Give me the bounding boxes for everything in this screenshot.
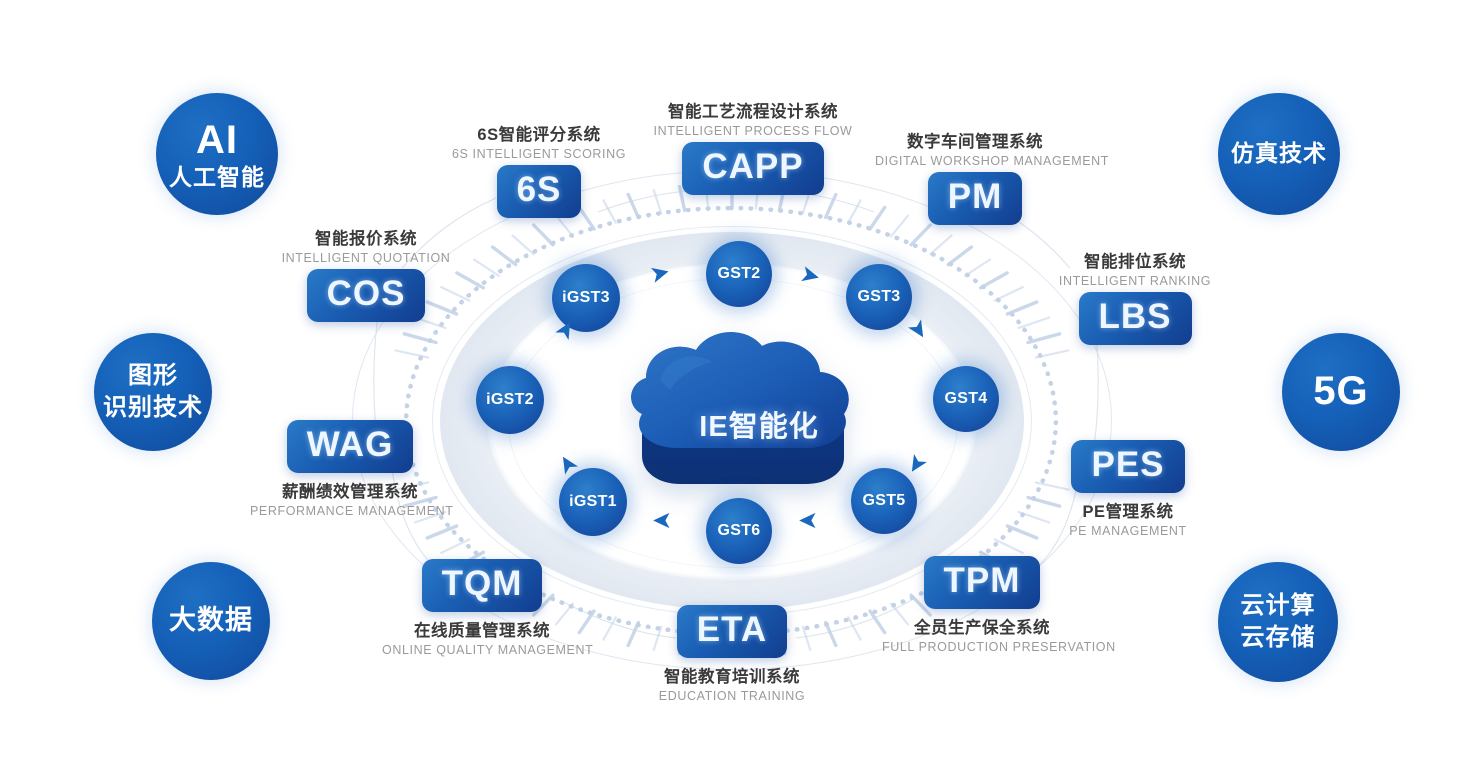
node-igst1-label: iGST1	[569, 493, 617, 511]
module-pm[interactable]: 数字车间管理系统 DIGITAL WORKSHOP MANAGEMENT PM	[875, 128, 1075, 225]
module-wag-cn: 薪酬绩效管理系统	[250, 478, 450, 502]
tech-circle-cloud[interactable]: 云计算 云存储	[1218, 562, 1338, 682]
module-cos-cn: 智能报价系统	[266, 225, 466, 249]
node-gst2-label: GST2	[718, 265, 761, 283]
module-tqm-cn: 在线质量管理系统	[382, 617, 582, 641]
tech-circle-ai-en: AI	[196, 117, 238, 164]
module-pes-abbr[interactable]: PES	[1071, 440, 1184, 493]
tech-circle-5g-en: 5G	[1313, 368, 1368, 415]
tech-circle-ai-cn: 人工智能	[169, 164, 265, 191]
module-6s-en: 6S INTELLIGENT SCORING	[439, 147, 639, 161]
node-gst4-label: GST4	[945, 390, 988, 408]
module-tqm[interactable]: TQM 在线质量管理系统 ONLINE QUALITY MANAGEMENT	[382, 559, 582, 657]
tech-circle-simulation-cn: 仿真技术	[1231, 140, 1327, 167]
module-capp-cn: 智能工艺流程设计系统	[653, 98, 853, 122]
tech-circle-bigdata[interactable]: 大数据	[152, 562, 270, 680]
module-6s-cn: 6S智能评分系统	[439, 121, 639, 145]
module-6s-abbr[interactable]: 6S	[497, 165, 582, 218]
tech-circle-ai[interactable]: AI 人工智能	[156, 93, 278, 215]
module-capp-en: INTELLIGENT PROCESS FLOW	[653, 124, 853, 138]
tech-circle-cloud-line1: 云计算	[1241, 590, 1316, 622]
tech-circle-graphics-line2: 识别技术	[103, 392, 203, 424]
arrow-bottom-left-icon: ➤	[652, 508, 672, 532]
node-igst3-label: iGST3	[562, 289, 610, 307]
node-gst5-label: GST5	[863, 492, 906, 510]
node-gst3-label: GST3	[858, 288, 901, 306]
module-cos-abbr[interactable]: COS	[307, 269, 426, 322]
module-cos[interactable]: 智能报价系统 INTELLIGENT QUOTATION COS	[266, 225, 466, 322]
module-pes-cn: PE管理系统	[1028, 498, 1228, 522]
tech-circle-simulation[interactable]: 仿真技术	[1218, 93, 1340, 215]
tech-circle-graphics[interactable]: 图形 识别技术	[94, 333, 212, 451]
diagram-canvas: IE智能化 GST2 GST3 GST4 GST5 GST6 iGST1 iGS…	[0, 0, 1463, 759]
module-pm-abbr[interactable]: PM	[928, 172, 1023, 225]
module-tqm-abbr[interactable]: TQM	[422, 559, 543, 612]
module-capp[interactable]: 智能工艺流程设计系统 INTELLIGENT PROCESS FLOW CAPP	[653, 98, 853, 195]
module-wag-en: PERFORMANCE MANAGEMENT	[250, 504, 450, 518]
tech-circle-cloud-line2: 云存储	[1241, 622, 1316, 654]
module-lbs-cn: 智能排位系统	[1035, 248, 1235, 272]
node-igst1[interactable]: iGST1	[559, 468, 627, 536]
node-gst6[interactable]: GST6	[706, 498, 772, 564]
node-gst6-label: GST6	[718, 522, 761, 540]
node-igst2[interactable]: iGST2	[476, 366, 544, 434]
node-gst3[interactable]: GST3	[846, 264, 912, 330]
tech-circle-graphics-line1: 图形	[128, 360, 178, 392]
module-eta-en: EDUCATION TRAINING	[632, 689, 832, 703]
module-lbs-en: INTELLIGENT RANKING	[1035, 274, 1235, 288]
module-tpm-cn: 全员生产保全系统	[882, 614, 1082, 638]
module-pes[interactable]: PES PE管理系统 PE MANAGEMENT	[1028, 440, 1228, 538]
arrow-bottom-right-icon: ➤	[798, 508, 818, 532]
module-wag[interactable]: WAG 薪酬绩效管理系统 PERFORMANCE MANAGEMENT	[250, 420, 450, 518]
module-cos-en: INTELLIGENT QUOTATION	[266, 251, 466, 265]
node-gst2[interactable]: GST2	[706, 241, 772, 307]
module-eta[interactable]: ETA 智能教育培训系统 EDUCATION TRAINING	[632, 605, 832, 703]
node-gst4[interactable]: GST4	[933, 366, 999, 432]
tech-circle-5g[interactable]: 5G	[1282, 333, 1400, 451]
module-tpm[interactable]: TPM 全员生产保全系统 FULL PRODUCTION PRESERVATIO…	[882, 556, 1082, 654]
tech-circle-bigdata-cn: 大数据	[169, 605, 253, 637]
node-gst5[interactable]: GST5	[851, 468, 917, 534]
module-eta-cn: 智能教育培训系统	[632, 663, 832, 687]
node-igst2-label: iGST2	[486, 391, 534, 409]
module-tpm-en: FULL PRODUCTION PRESERVATION	[882, 640, 1082, 654]
module-lbs-abbr[interactable]: LBS	[1079, 292, 1192, 345]
module-pm-cn: 数字车间管理系统	[875, 128, 1075, 152]
module-pes-en: PE MANAGEMENT	[1028, 524, 1228, 538]
module-6s[interactable]: 6S智能评分系统 6S INTELLIGENT SCORING 6S	[439, 121, 639, 218]
module-pm-en: DIGITAL WORKSHOP MANAGEMENT	[875, 154, 1075, 168]
module-capp-abbr[interactable]: CAPP	[682, 142, 823, 195]
module-lbs[interactable]: 智能排位系统 INTELLIGENT RANKING LBS	[1035, 248, 1235, 345]
module-tqm-en: ONLINE QUALITY MANAGEMENT	[382, 643, 582, 657]
module-eta-abbr[interactable]: ETA	[677, 605, 787, 658]
module-tpm-abbr[interactable]: TPM	[924, 556, 1041, 609]
module-wag-abbr[interactable]: WAG	[287, 420, 414, 473]
